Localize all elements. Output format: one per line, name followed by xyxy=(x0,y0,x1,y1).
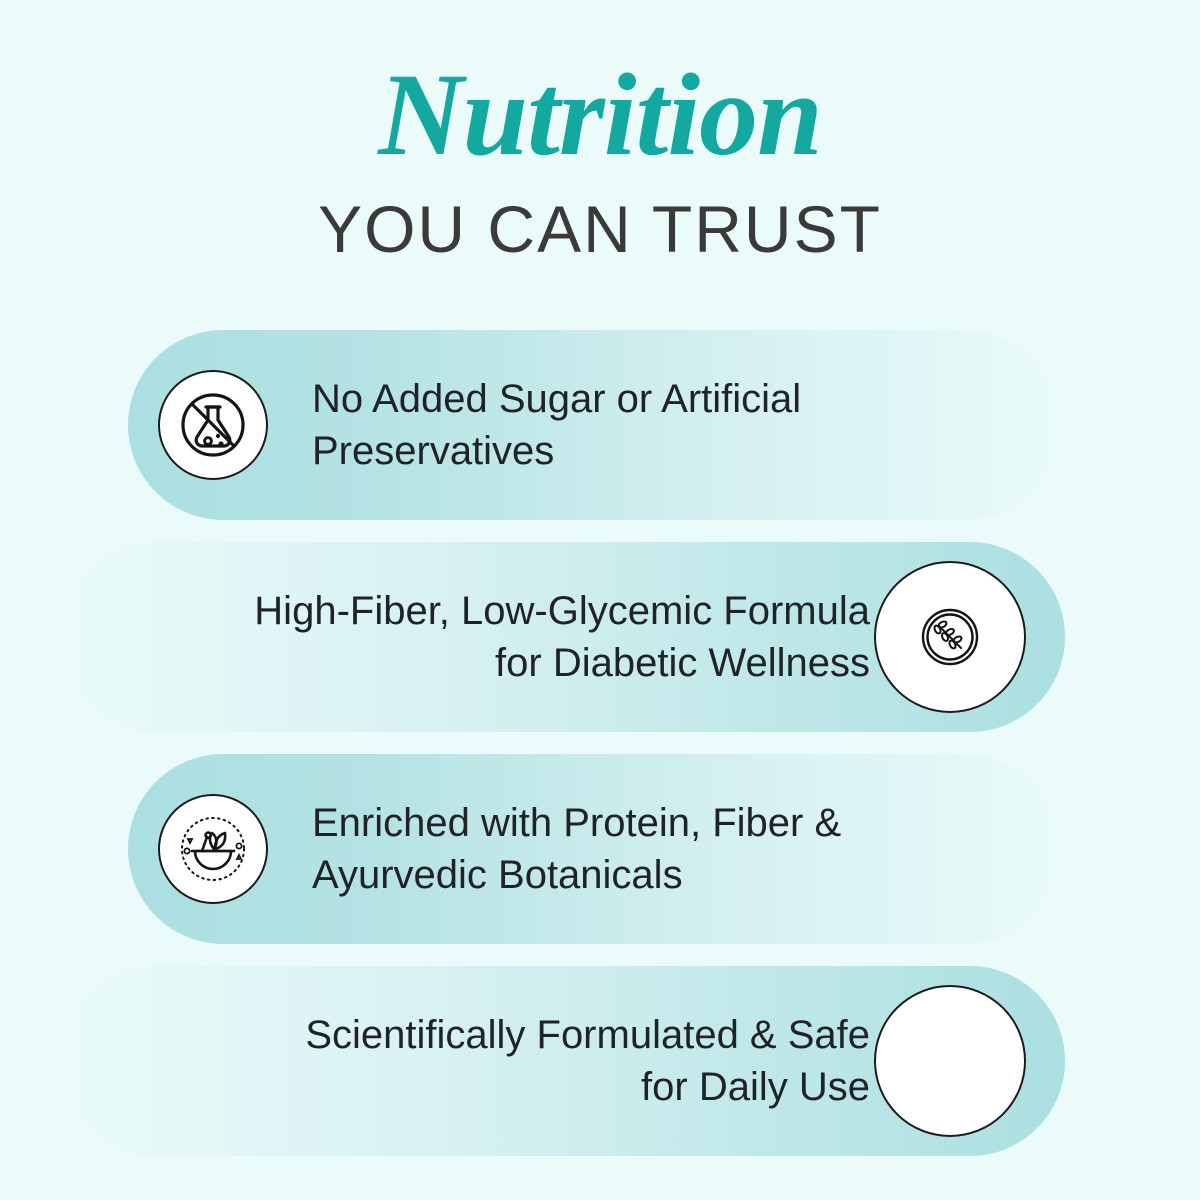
page-subtitle: YOU CAN TRUST xyxy=(0,174,1200,262)
feature-row-high-fiber: High-Fiber, Low-Glycemic Formula for Dia… xyxy=(0,542,1200,732)
grain-wheat-icon xyxy=(874,561,1026,713)
feature-label-line1: High-Fiber, Low-Glycemic Formula xyxy=(254,589,870,633)
blank-icon xyxy=(874,985,1026,1137)
feature-label: Enriched with Protein, Fiber & Ayurvedic… xyxy=(312,797,1050,901)
mortar-pestle-herbs-icon xyxy=(158,794,268,904)
feature-label-line2: for Diabetic Wellness xyxy=(495,641,870,685)
feature-row-scientifically-formulated: Scientifically Formulated & Safe for Dai… xyxy=(0,966,1200,1156)
feature-label-line1: Scientifically Formulated & Safe xyxy=(305,1013,870,1057)
header: Nutrition YOU CAN TRUST xyxy=(0,0,1200,262)
feature-label: No Added Sugar or Artificial Preservativ… xyxy=(312,373,1050,477)
feature-label: Scientifically Formulated & Safe for Dai… xyxy=(90,1009,870,1113)
feature-label-line2: Preservatives xyxy=(312,429,554,473)
feature-label: High-Fiber, Low-Glycemic Formula for Dia… xyxy=(90,585,870,689)
feature-label-line1: Enriched with Protein, Fiber & xyxy=(312,801,841,845)
no-chemicals-flask-icon xyxy=(158,370,268,480)
feature-label-line1: No Added Sugar or Artificial xyxy=(312,377,801,421)
feature-list: No Added Sugar or Artificial Preservativ… xyxy=(0,330,1200,1178)
page-title-script: Nutrition xyxy=(0,0,1200,174)
nutrition-trust-infographic: Nutrition YOU CAN TRUST xyxy=(0,0,1200,1200)
feature-label-line2: Ayurvedic Botanicals xyxy=(312,853,683,897)
feature-row-no-added-sugar: No Added Sugar or Artificial Preservativ… xyxy=(0,330,1200,520)
feature-label-line2: for Daily Use xyxy=(641,1065,870,1109)
feature-row-enriched-protein: Enriched with Protein, Fiber & Ayurvedic… xyxy=(0,754,1200,944)
